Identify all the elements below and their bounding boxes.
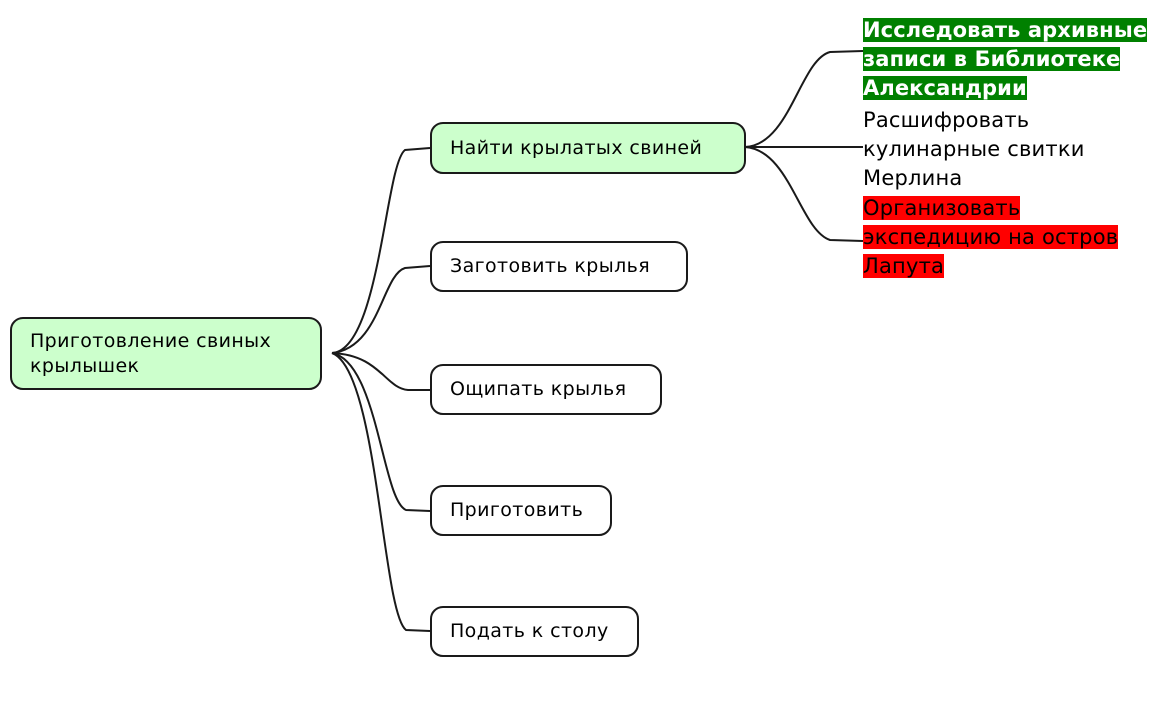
- leaf-line: записи в Библиотеке: [863, 47, 1120, 71]
- node-zagotovit-krylya[interactable]: Заготовить крылья: [430, 241, 688, 292]
- edge-root-to-prigotovit: [332, 353, 430, 511]
- leaf-line: экспедицию на остров: [863, 225, 1118, 249]
- node-label: Подать к столу: [450, 619, 609, 644]
- edge-nayti-to-organizovat: [745, 147, 863, 241]
- mindmap-canvas: Приготовление свиных крылышек Найти крыл…: [0, 0, 1163, 705]
- node-podat-k-stolu[interactable]: Подать к столу: [430, 606, 639, 657]
- leaf-line: Лапута: [863, 254, 944, 278]
- node-root[interactable]: Приготовление свиных крылышек: [10, 317, 322, 390]
- leaf-issledovat-arkhivnye-zapisi[interactable]: Исследовать архивные записи в Библиотеке…: [863, 16, 1163, 103]
- leaf-line: кулинарные свитки: [863, 137, 1085, 161]
- leaf-rasshifrovat-kulinarnye-svitki[interactable]: Расшифровать кулинарные свитки Мерлина: [863, 106, 1163, 193]
- node-nayti-krylatykh-sviney[interactable]: Найти крылатых свиней: [430, 122, 746, 174]
- node-label: Ощипать крылья: [450, 377, 626, 402]
- node-oshchipat-krylya[interactable]: Ощипать крылья: [430, 364, 662, 415]
- node-prigotovit[interactable]: Приготовить: [430, 485, 612, 536]
- edge-root-to-zagotovit: [332, 266, 430, 353]
- leaf-line: Александрии: [863, 76, 1027, 100]
- node-label: Заготовить крылья: [450, 254, 650, 279]
- node-root-label: Приготовление свиных крылышек: [30, 329, 302, 379]
- leaf-organizovat-ekspeditsiyu[interactable]: Организовать экспедицию на остров Лапута: [863, 194, 1163, 281]
- edge-root-to-nayti: [332, 148, 430, 353]
- edge-nayti-to-issledovat: [745, 51, 863, 147]
- edge-root-to-oshchipat: [332, 353, 430, 390]
- leaf-line: Мерлина: [863, 166, 962, 190]
- leaf-line: Организовать: [863, 196, 1020, 220]
- leaf-line: Исследовать архивные: [863, 18, 1147, 42]
- node-label: Найти крылатых свиней: [450, 136, 702, 161]
- node-label: Приготовить: [450, 498, 583, 523]
- edge-root-to-podat: [332, 353, 430, 631]
- leaf-line: Расшифровать: [863, 108, 1029, 132]
